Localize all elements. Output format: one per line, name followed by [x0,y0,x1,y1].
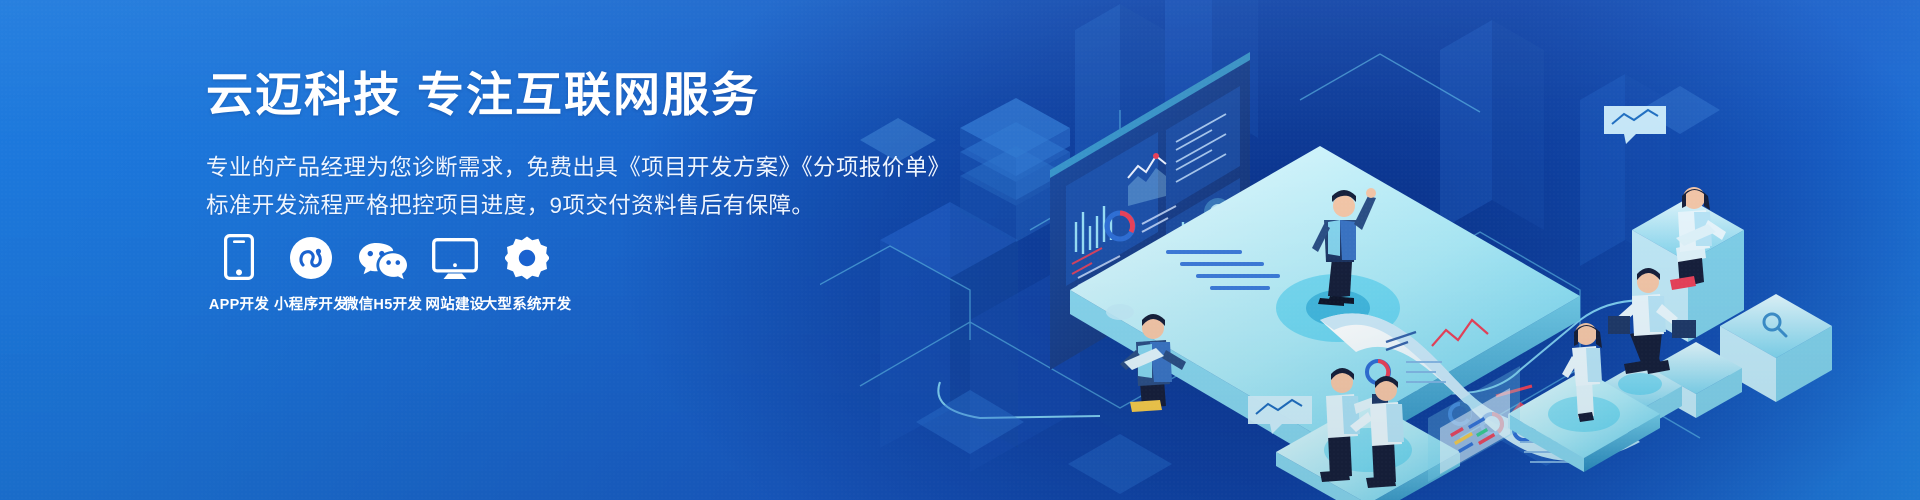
illustration-isometric-digital-business-scene [820,0,1920,500]
service-item-mini-program[interactable]: 小程序开发 [275,232,347,314]
gear-icon [505,232,549,280]
hero-banner: 云迈科技 专注互联网服务 专业的产品经理为您诊断需求，免费出具《项目开发方案》《… [0,0,1920,500]
service-list: APP开发 小程序开发 [203,232,563,314]
service-item-wechat-h5[interactable]: 微信H5开发 [347,232,419,314]
wechat-icon [357,232,409,280]
service-label: 小程序开发 [274,293,348,314]
service-item-app[interactable]: APP开发 [203,232,275,314]
subtitle-line-1: 专业的产品经理为您诊断需求，免费出具《项目开发方案》《分项报价单》 [206,150,906,185]
page-title: 云迈科技 专注互联网服务 [206,70,906,121]
subtitle-line-2: 标准开发流程严格把控项目进度，9项交付资料售后有保障。 [206,188,906,223]
mini-program-icon [289,232,333,280]
mobile-phone-icon [224,232,254,280]
banner-copy: 云迈科技 专注互联网服务 专业的产品经理为您诊断需求，免费出具《项目开发方案》《… [206,70,906,223]
service-item-large-system[interactable]: 大型系统开发 [491,232,563,314]
desktop-monitor-icon [432,232,478,280]
service-label: 大型系统开发 [483,293,572,314]
service-label: APP开发 [209,293,269,314]
service-label: 微信H5开发 [344,293,422,314]
service-item-website[interactable]: 网站建设 [419,232,491,314]
service-label: 网站建设 [425,293,484,314]
